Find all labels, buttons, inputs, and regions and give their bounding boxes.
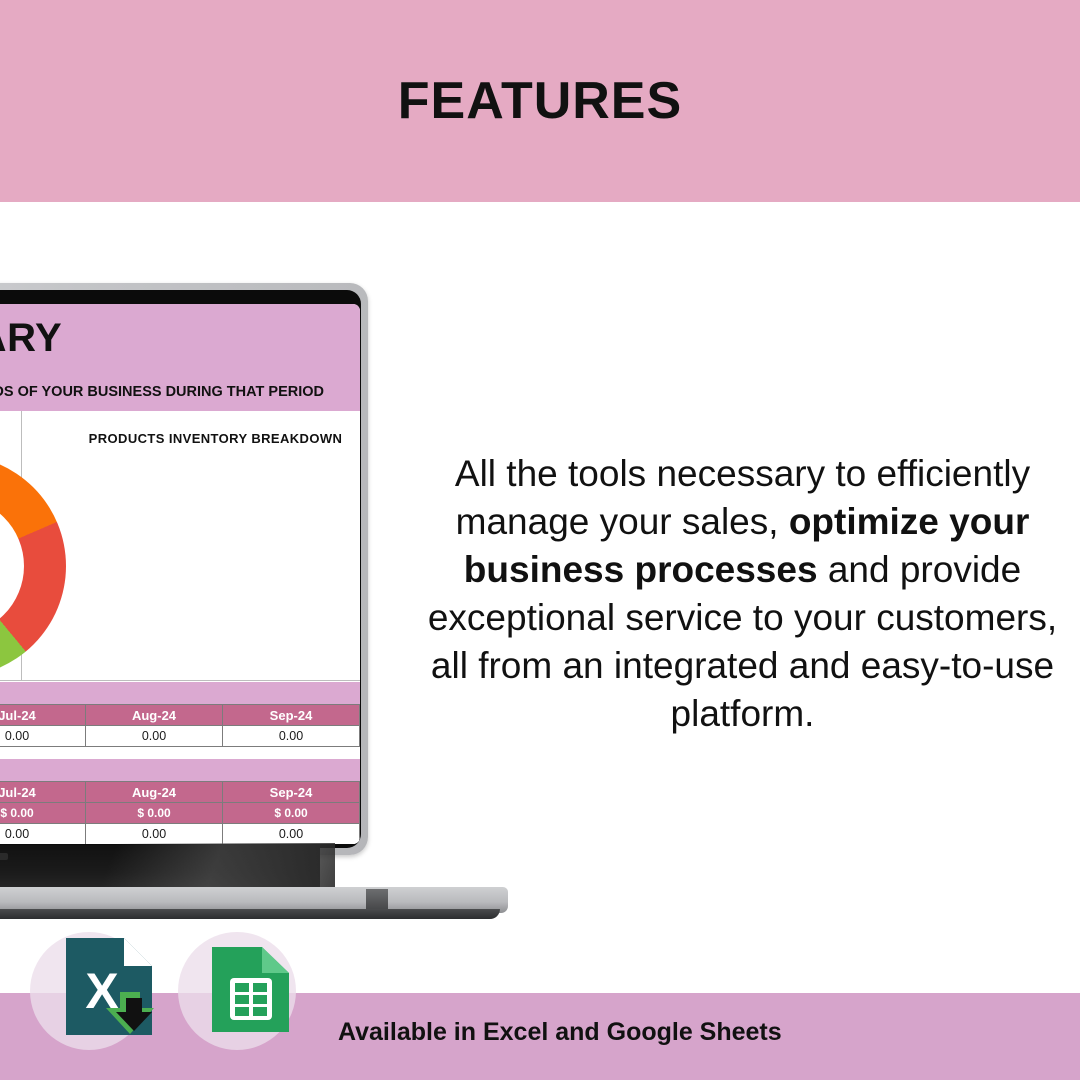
feature-description: All the tools necessary to efficiently m… xyxy=(425,450,1060,739)
laptop-base-lip xyxy=(0,909,500,919)
table-gap-row xyxy=(0,747,360,759)
table-header-row: Jul-24 Aug-24 Sep-24 xyxy=(0,782,360,803)
cell-jul: 0.00 xyxy=(0,726,86,747)
col-header-sep: Sep-24 xyxy=(223,705,360,726)
cell-aug: 0.00 xyxy=(86,824,223,845)
table-row: 0.00 0.00 0.00 xyxy=(0,824,360,845)
col-header-aug: Aug-24 xyxy=(86,782,223,803)
spreadsheet-tables: TOTAL COLLECTED Jul-24 Aug-24 Sep-24 0.0… xyxy=(0,682,360,844)
laptop-screen: SALES SUMMARY A SUMMARY OF THE ACCOUNTIN… xyxy=(0,304,360,844)
page-title: FEATURES xyxy=(398,71,682,131)
table-row: $ 0.00 $ 0.00 $ 0.00 xyxy=(0,803,360,824)
cell-jul: $ 0.00 xyxy=(0,803,86,824)
charts-row: SALES BREAKDOWN PRODUCTS INVENTORY BREAK… xyxy=(0,411,360,681)
cell-sep: 0.00 xyxy=(223,824,360,845)
col-header-aug: Aug-24 xyxy=(86,705,223,726)
spreadsheet-subtitle: A SUMMARY OF THE ACCOUNTING RECORDS OF Y… xyxy=(0,384,324,400)
cell-sep: $ 0.00 xyxy=(223,803,360,824)
col-header-jul: Jul-24 xyxy=(0,705,86,726)
laptop-mockup: SALES SUMMARY A SUMMARY OF THE ACCOUNTIN… xyxy=(0,283,520,903)
table-header-row: Jul-24 Aug-24 Sep-24 xyxy=(0,705,360,726)
products-inventory-panel: PRODUCTS INVENTORY BREAKDOWN xyxy=(23,411,360,681)
col-header-jul: Jul-24 xyxy=(0,782,86,803)
cell-aug: 0.00 xyxy=(86,726,223,747)
cell-jul: 0.00 xyxy=(0,824,86,845)
products-inventory-data-label: 27.4% xyxy=(0,624,7,639)
laptop-base-notch xyxy=(366,889,388,909)
availability-label: Available in Excel and Google Sheets xyxy=(338,1018,782,1047)
laptop-lid: SALES SUMMARY A SUMMARY OF THE ACCOUNTIN… xyxy=(0,283,368,855)
table-row: 0.00 0.00 0.00 xyxy=(0,726,360,747)
periods-income-table: Jul-24 Aug-24 Sep-24 $ 0.00 $ 0.00 $ 0.0… xyxy=(0,781,360,844)
products-inventory-title: PRODUCTS INVENTORY BREAKDOWN xyxy=(47,431,360,446)
total-collected-table: Jul-24 Aug-24 Sep-24 0.00 0.00 0.00 xyxy=(0,704,360,747)
google-sheets-icon xyxy=(208,943,293,1036)
table-section-title-collected: TOTAL COLLECTED xyxy=(0,682,360,704)
spreadsheet-title: SALES SUMMARY xyxy=(0,316,62,361)
table-section-title-income: PERIODS - INCOME xyxy=(0,759,360,781)
laptop-bezel: SALES SUMMARY A SUMMARY OF THE ACCOUNTIN… xyxy=(0,290,361,848)
sales-breakdown-title: SALES BREAKDOWN xyxy=(0,431,21,446)
cell-aug: $ 0.00 xyxy=(86,803,223,824)
spreadsheet-title-band: SALES SUMMARY A SUMMARY OF THE ACCOUNTIN… xyxy=(0,304,360,411)
cell-sep: 0.00 xyxy=(223,726,360,747)
excel-download-icon: X xyxy=(62,934,157,1039)
header-band: FEATURES xyxy=(0,0,1080,202)
table-gap-cell xyxy=(0,747,360,759)
table-spacer xyxy=(0,747,360,759)
col-header-sep: Sep-24 xyxy=(223,782,360,803)
